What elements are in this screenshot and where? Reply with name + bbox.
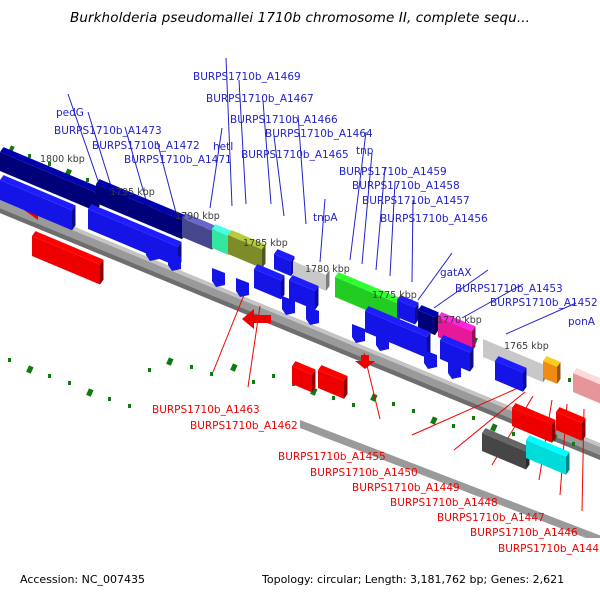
gene-label-reverse[interactable]: BURPS1710b_A1450 [310, 468, 418, 479]
footer-bar: Accession: NC_007435 Topology: circular;… [0, 565, 600, 600]
scale-tick-label[interactable]: 1780 kbp [305, 264, 350, 275]
gene-label-reverse[interactable]: BURPS1710b_A1446 [470, 528, 578, 539]
accession-text: Accession: NC_007435 [20, 573, 145, 586]
genome-viewer: Burkholderia pseudomallei 1710b chromoso… [0, 0, 600, 600]
gene-label-reverse[interactable]: BURPS1710b_A1455 [278, 452, 386, 463]
gene-label-forward[interactable]: gatAX [440, 268, 472, 279]
gene-feature[interactable] [228, 230, 266, 268]
gene-feature[interactable] [482, 428, 530, 469]
scale-tick-label[interactable]: 1775 kbp [372, 290, 417, 301]
gene-label-forward[interactable]: BURPS1710b_A1459 [339, 167, 447, 178]
scale-tick-label[interactable]: 1770 kbp [437, 315, 482, 326]
gene-label-reverse[interactable]: BURPS1710b_A1449 [352, 483, 460, 494]
gene-label-forward[interactable]: BURPS1710b_A1452 [490, 298, 598, 309]
gene-label-forward[interactable]: BURPS1710b_A1473 [54, 126, 162, 137]
gene-label-forward[interactable]: BURPS1710b_A1472 [92, 141, 200, 152]
scale-tick-label[interactable]: 1795 kbp [110, 187, 155, 198]
gene-label-forward[interactable]: BURPS1710b_A1457 [362, 196, 470, 207]
gene-label-reverse[interactable]: BURPS1710b_A1445 [498, 544, 600, 555]
gene-feature[interactable] [274, 249, 295, 276]
gene-label-forward[interactable]: BURPS1710b_A1465 [241, 150, 349, 161]
gene-feature[interactable] [318, 365, 348, 399]
gene-label-reverse[interactable]: BURPS1710b_A1447 [437, 513, 545, 524]
genome-map-canvas[interactable]: BURPS1710b_A1469BURPS1710b_A1467BURPS171… [0, 28, 600, 538]
page-title: Burkholderia pseudomallei 1710b chromoso… [0, 10, 600, 26]
gene-arrow[interactable] [352, 324, 365, 343]
gene-label-forward[interactable]: BURPS1710b_A1471 [124, 155, 232, 166]
gene-label-forward[interactable]: BURPS1710b_A1456 [380, 214, 488, 225]
gene-label-forward[interactable]: BURPS1710b_A1453 [455, 284, 563, 295]
gene-label-forward[interactable]: BURPS1710b_A1467 [206, 94, 314, 105]
scale-tick-label[interactable]: 1790 kbp [175, 211, 220, 222]
gene-label-reverse[interactable]: BURPS1710b_A1463 [152, 405, 260, 416]
gene-feature[interactable] [512, 403, 556, 443]
gene-arrow[interactable] [424, 350, 437, 369]
gene-features-lower[interactable] [0, 175, 527, 392]
scale-tick-label[interactable]: 1800 kbp [40, 154, 85, 165]
gene-label-forward[interactable]: tnp [356, 146, 373, 157]
gene-label-forward[interactable]: BURPS1710b_A1458 [352, 181, 460, 192]
gene-arrow[interactable] [212, 268, 225, 287]
gene-label-forward[interactable]: hetI [213, 142, 233, 153]
gene-feature[interactable] [292, 361, 316, 392]
gene-feature[interactable] [543, 356, 561, 384]
gene-label-forward[interactable]: BURPS1710b_A1469 [193, 72, 301, 83]
gene-label-reverse[interactable]: BURPS1710b_A1462 [190, 421, 298, 432]
gene-arrow[interactable] [306, 306, 319, 325]
gene-label-forward[interactable]: tnpA [313, 213, 338, 224]
gene-label-forward[interactable]: BURPS1710b_A1464 [265, 129, 373, 140]
gene-label-forward[interactable]: pedG [56, 108, 84, 119]
gene-label-forward[interactable]: BURPS1710b_A1466 [230, 115, 338, 126]
scale-tick-label[interactable]: 1785 kbp [243, 238, 288, 249]
gene-label-reverse[interactable]: BURPS1710b_A1448 [390, 498, 498, 509]
sequence-stats-text: Topology: circular; Length: 3,181,762 bp… [262, 573, 564, 586]
gene-label-forward[interactable]: ponA [568, 317, 595, 328]
gene-feature[interactable] [573, 368, 600, 407]
scale-tick-label[interactable]: 1765 kbp [504, 341, 549, 352]
